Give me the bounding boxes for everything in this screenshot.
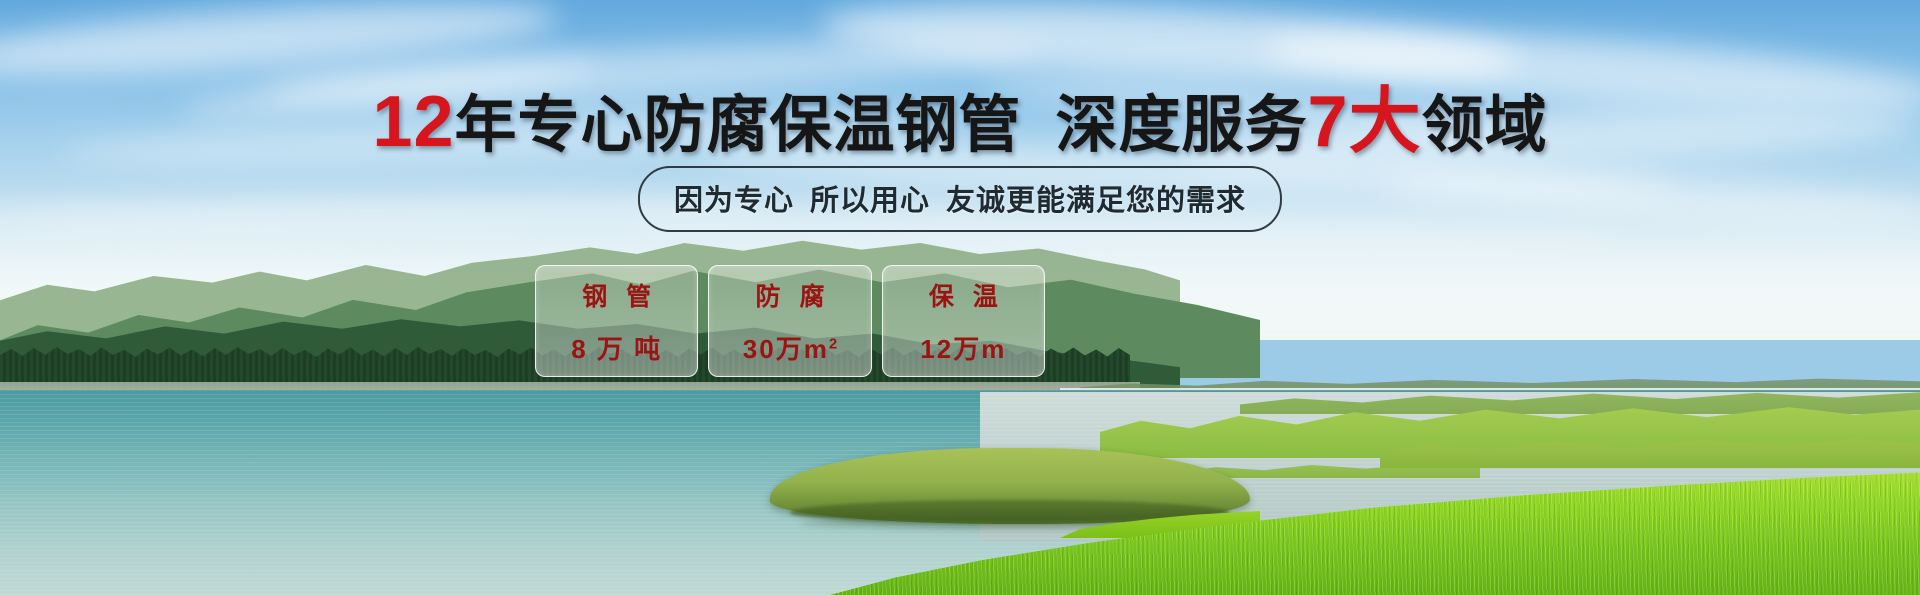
subtitle-segment-1: 因为专心	[674, 185, 794, 217]
banner-headline: 12年专心防腐保温钢管深度服务7大领域	[0, 86, 1920, 158]
headline-main-text: 年专心防腐保温钢管	[455, 91, 1022, 160]
banner-subtitle-pill: 因为专心所以用心友诚更能满足您的需求	[638, 166, 1282, 232]
stat-card-value: 30万m2	[743, 329, 837, 366]
subtitle-segment-3: 友诚更能满足您的需求	[946, 185, 1246, 217]
stat-card-label: 钢 管	[576, 277, 657, 313]
promo-banner: 12年专心防腐保温钢管深度服务7大领域 因为专心所以用心友诚更能满足您的需求 钢…	[0, 0, 1920, 595]
stat-value-superscript: 2	[829, 335, 837, 352]
headline-fields-text: 领域	[1422, 91, 1548, 160]
stat-card-value: 12万m	[920, 329, 1006, 366]
headline-service-text: 深度服务	[1056, 91, 1308, 160]
subtitle-segment-2: 所以用心	[810, 185, 930, 217]
headline-fields-number: 7大	[1308, 82, 1422, 162]
headline-years-number: 12	[372, 82, 454, 162]
stat-card-anticorrosion[interactable]: 防 腐 30万m2	[708, 265, 871, 377]
stat-card-insulation[interactable]: 保 温 12万m	[882, 265, 1045, 377]
stat-card-value: 8 万 吨	[571, 329, 662, 366]
stat-card-label: 防 腐	[750, 277, 831, 313]
stat-card-group: 钢 管 8 万 吨 防 腐 30万m2 保 温 12万m	[535, 265, 1045, 375]
stat-card-steel-pipe[interactable]: 钢 管 8 万 吨	[535, 265, 698, 377]
stat-card-label: 保 温	[923, 277, 1004, 313]
stat-value-text: 30万m	[743, 334, 829, 364]
stat-value-text: 8 万 吨	[571, 334, 662, 364]
stat-value-text: 12万m	[920, 334, 1006, 364]
